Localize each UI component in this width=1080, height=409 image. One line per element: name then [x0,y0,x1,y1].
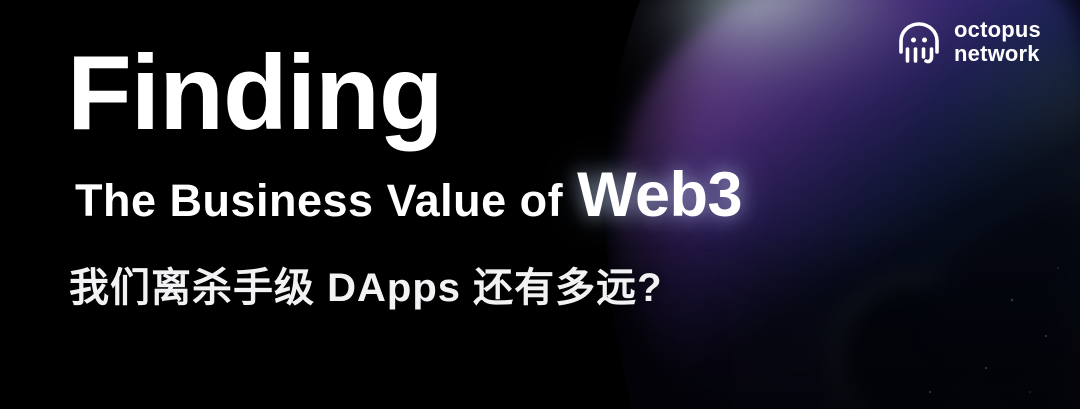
headline-block: Finding The Business Value of Web3 我们离杀手… [67,40,742,313]
headline-line-1: Finding [67,40,742,146]
headline-emphasis-web3: Web3 [577,164,742,227]
logo-wordmark: octopus network [954,18,1041,66]
promo-banner: Finding The Business Value of Web3 我们离杀手… [0,0,1080,409]
logo-name-line-1: octopus [954,18,1041,42]
subtitle-chinese: 我们离杀手级 DApps 还有多远? [69,255,742,313]
headline-line-2-lead: The Business Value of [75,178,563,223]
logo-name-line-2: network [954,42,1041,66]
octopus-icon [893,16,945,68]
octopus-network-logo: octopus network [893,16,1041,68]
headline-line-2: The Business Value of Web3 [75,164,742,227]
